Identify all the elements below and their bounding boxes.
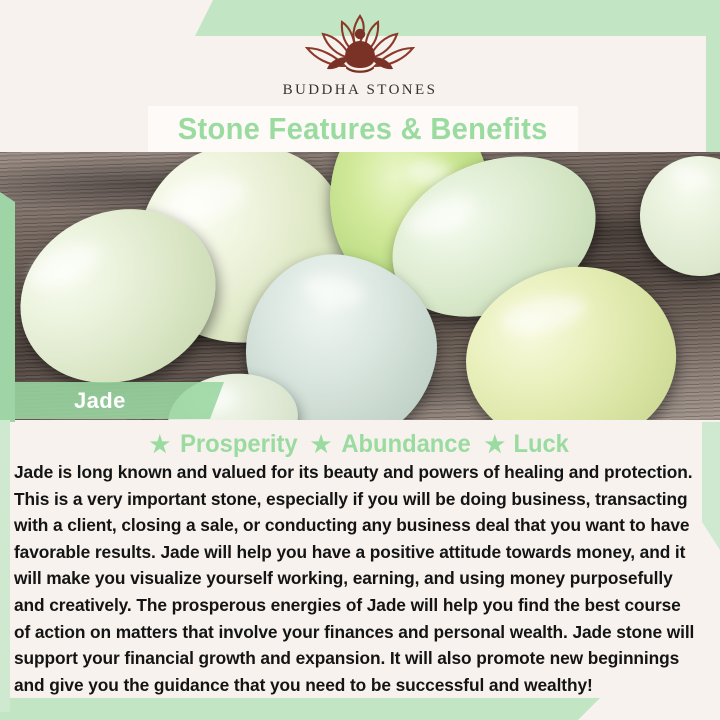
stone-name-label: Jade	[74, 388, 126, 414]
page-title-banner: Stone Features & Benefits	[148, 106, 578, 152]
keyword-label: Abundance	[342, 430, 471, 459]
star-icon: ★	[311, 433, 332, 456]
brand-logo: BUDDHA STONES	[0, 8, 720, 118]
star-icon: ★	[149, 433, 170, 456]
star-icon: ★	[485, 433, 506, 456]
description-paragraph: Jade is long known and valued for its be…	[14, 459, 698, 698]
keyword-list: ★ Prosperity ★ Abundance ★ Luck	[0, 430, 720, 459]
decor-green-bottom-band	[0, 698, 600, 720]
page-title: Stone Features & Benefits	[178, 111, 548, 147]
stone-photo	[0, 152, 720, 420]
stone-benefits-infographic: BUDDHA STONES Stone Features & Benefits …	[0, 0, 720, 720]
keyword-luck: ★ Luck	[485, 430, 571, 459]
keyword-label: Prosperity	[180, 430, 297, 459]
keyword-abundance: ★ Abundance	[311, 430, 475, 459]
keyword-prosperity: ★ Prosperity	[149, 430, 300, 459]
decor-green-left-lower	[0, 420, 10, 712]
decor-green-left-strip	[0, 192, 15, 422]
keyword-label: Luck	[514, 430, 569, 459]
brand-name: BUDDHA STONES	[283, 82, 438, 99]
lotus-meditation-icon	[285, 8, 435, 80]
stone-name-banner: Jade	[14, 382, 224, 419]
